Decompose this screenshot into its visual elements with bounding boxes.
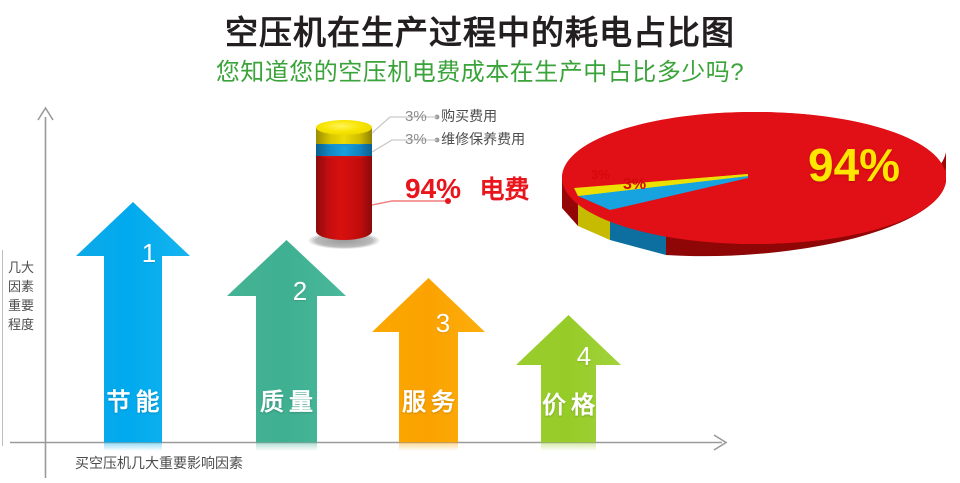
callout-electricity-pct: 94% — [405, 173, 461, 204]
pie-label-electricity: 94% — [808, 138, 900, 192]
callout-maintenance-text: 维修保养费用 — [441, 131, 525, 147]
infographic-canvas: 空压机在生产过程中的耗电占比图 您知道您的空压机电费成本在生产中占比多少吗? 几… — [0, 0, 960, 483]
pie-label-maintenance: 3% — [623, 176, 646, 194]
callout-purchase-pct: 3% — [405, 108, 427, 125]
callout-electricity-text: 电费 — [480, 176, 530, 204]
callout-maintenance: 3% 维修保养费用 — [405, 129, 525, 149]
callout-maintenance-pct: 3% — [405, 131, 427, 148]
callout-purchase-text: 购买费用 — [441, 108, 497, 124]
pie-label-purchase: 3% — [591, 167, 610, 182]
pie-chart-3d[interactable]: 94% 3% 3% — [548, 108, 960, 263]
callout-electricity: 94% 电费 — [405, 170, 530, 206]
callout-purchase: 3% 购买费用 — [405, 106, 497, 126]
